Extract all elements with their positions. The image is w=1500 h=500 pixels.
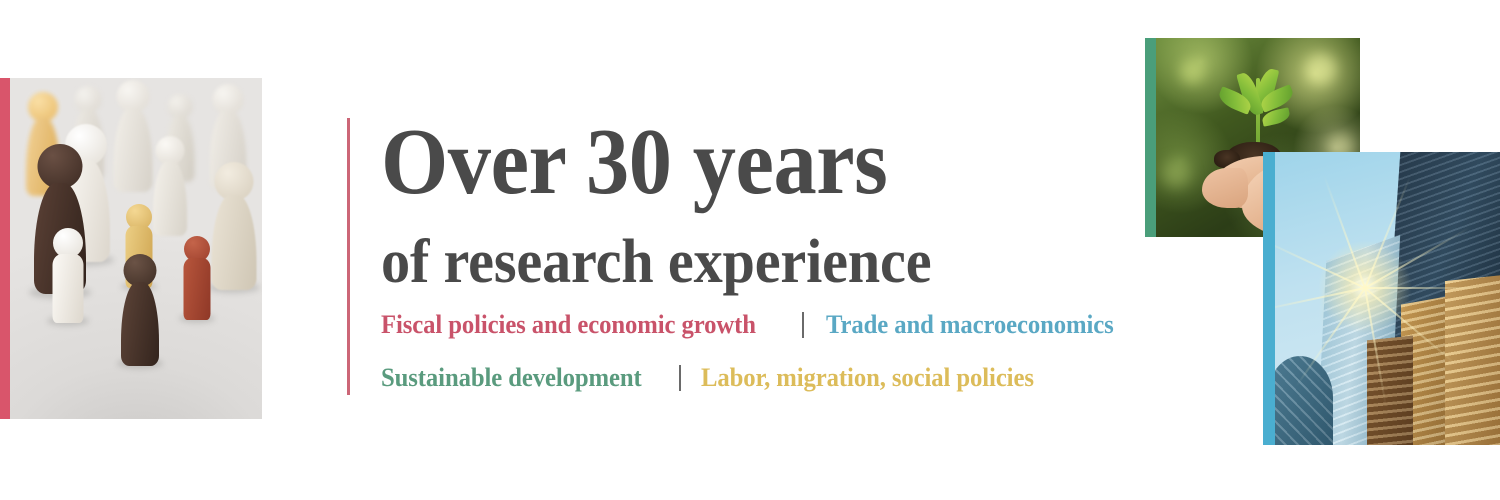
topic-fiscal-policies[interactable]: Fiscal policies and economic growth xyxy=(381,309,756,341)
topic-labor-migration-social[interactable]: Labor, migration, social policies xyxy=(701,362,1034,394)
wooden-peg-figures-photo xyxy=(0,78,262,419)
peg-figure xyxy=(180,236,214,320)
left-photo-accent-bar xyxy=(0,78,10,419)
left-photo-image xyxy=(10,78,262,419)
topic-row-2: Sustainable development Labor, migration… xyxy=(381,362,1052,394)
plant-photo-accent-bar xyxy=(1145,38,1156,237)
topic-sustainable-development[interactable]: Sustainable development xyxy=(381,362,642,394)
topic-trade-macroeconomics[interactable]: Trade and macroeconomics xyxy=(826,309,1114,341)
topic-separator-icon xyxy=(802,312,804,338)
research-experience-banner: Over 30 years of research experience Fis… xyxy=(0,0,1500,500)
city-photo-accent-bar xyxy=(1263,152,1275,445)
page-subtitle: of research experience xyxy=(381,226,931,298)
peg-figure xyxy=(150,136,190,236)
peg-figure xyxy=(208,162,260,290)
bokeh-circle xyxy=(1306,54,1336,84)
headline-accent-rule xyxy=(347,118,350,395)
skyscraper xyxy=(1367,336,1413,445)
topic-separator-icon xyxy=(679,365,681,391)
skyscraper xyxy=(1445,275,1500,445)
topic-row-1: Fiscal policies and economic growth Trad… xyxy=(381,309,1129,341)
peg-figure xyxy=(118,254,162,366)
bokeh-circle xyxy=(1162,160,1190,188)
bokeh-circle xyxy=(1180,60,1204,84)
skyscraper-dome xyxy=(1275,356,1333,445)
skyscrapers-sunburst-photo xyxy=(1263,152,1500,445)
peg-figure xyxy=(48,228,88,323)
cupped-hand xyxy=(1202,168,1248,208)
page-title: Over 30 years xyxy=(381,110,887,214)
city-photo-image xyxy=(1275,152,1500,445)
